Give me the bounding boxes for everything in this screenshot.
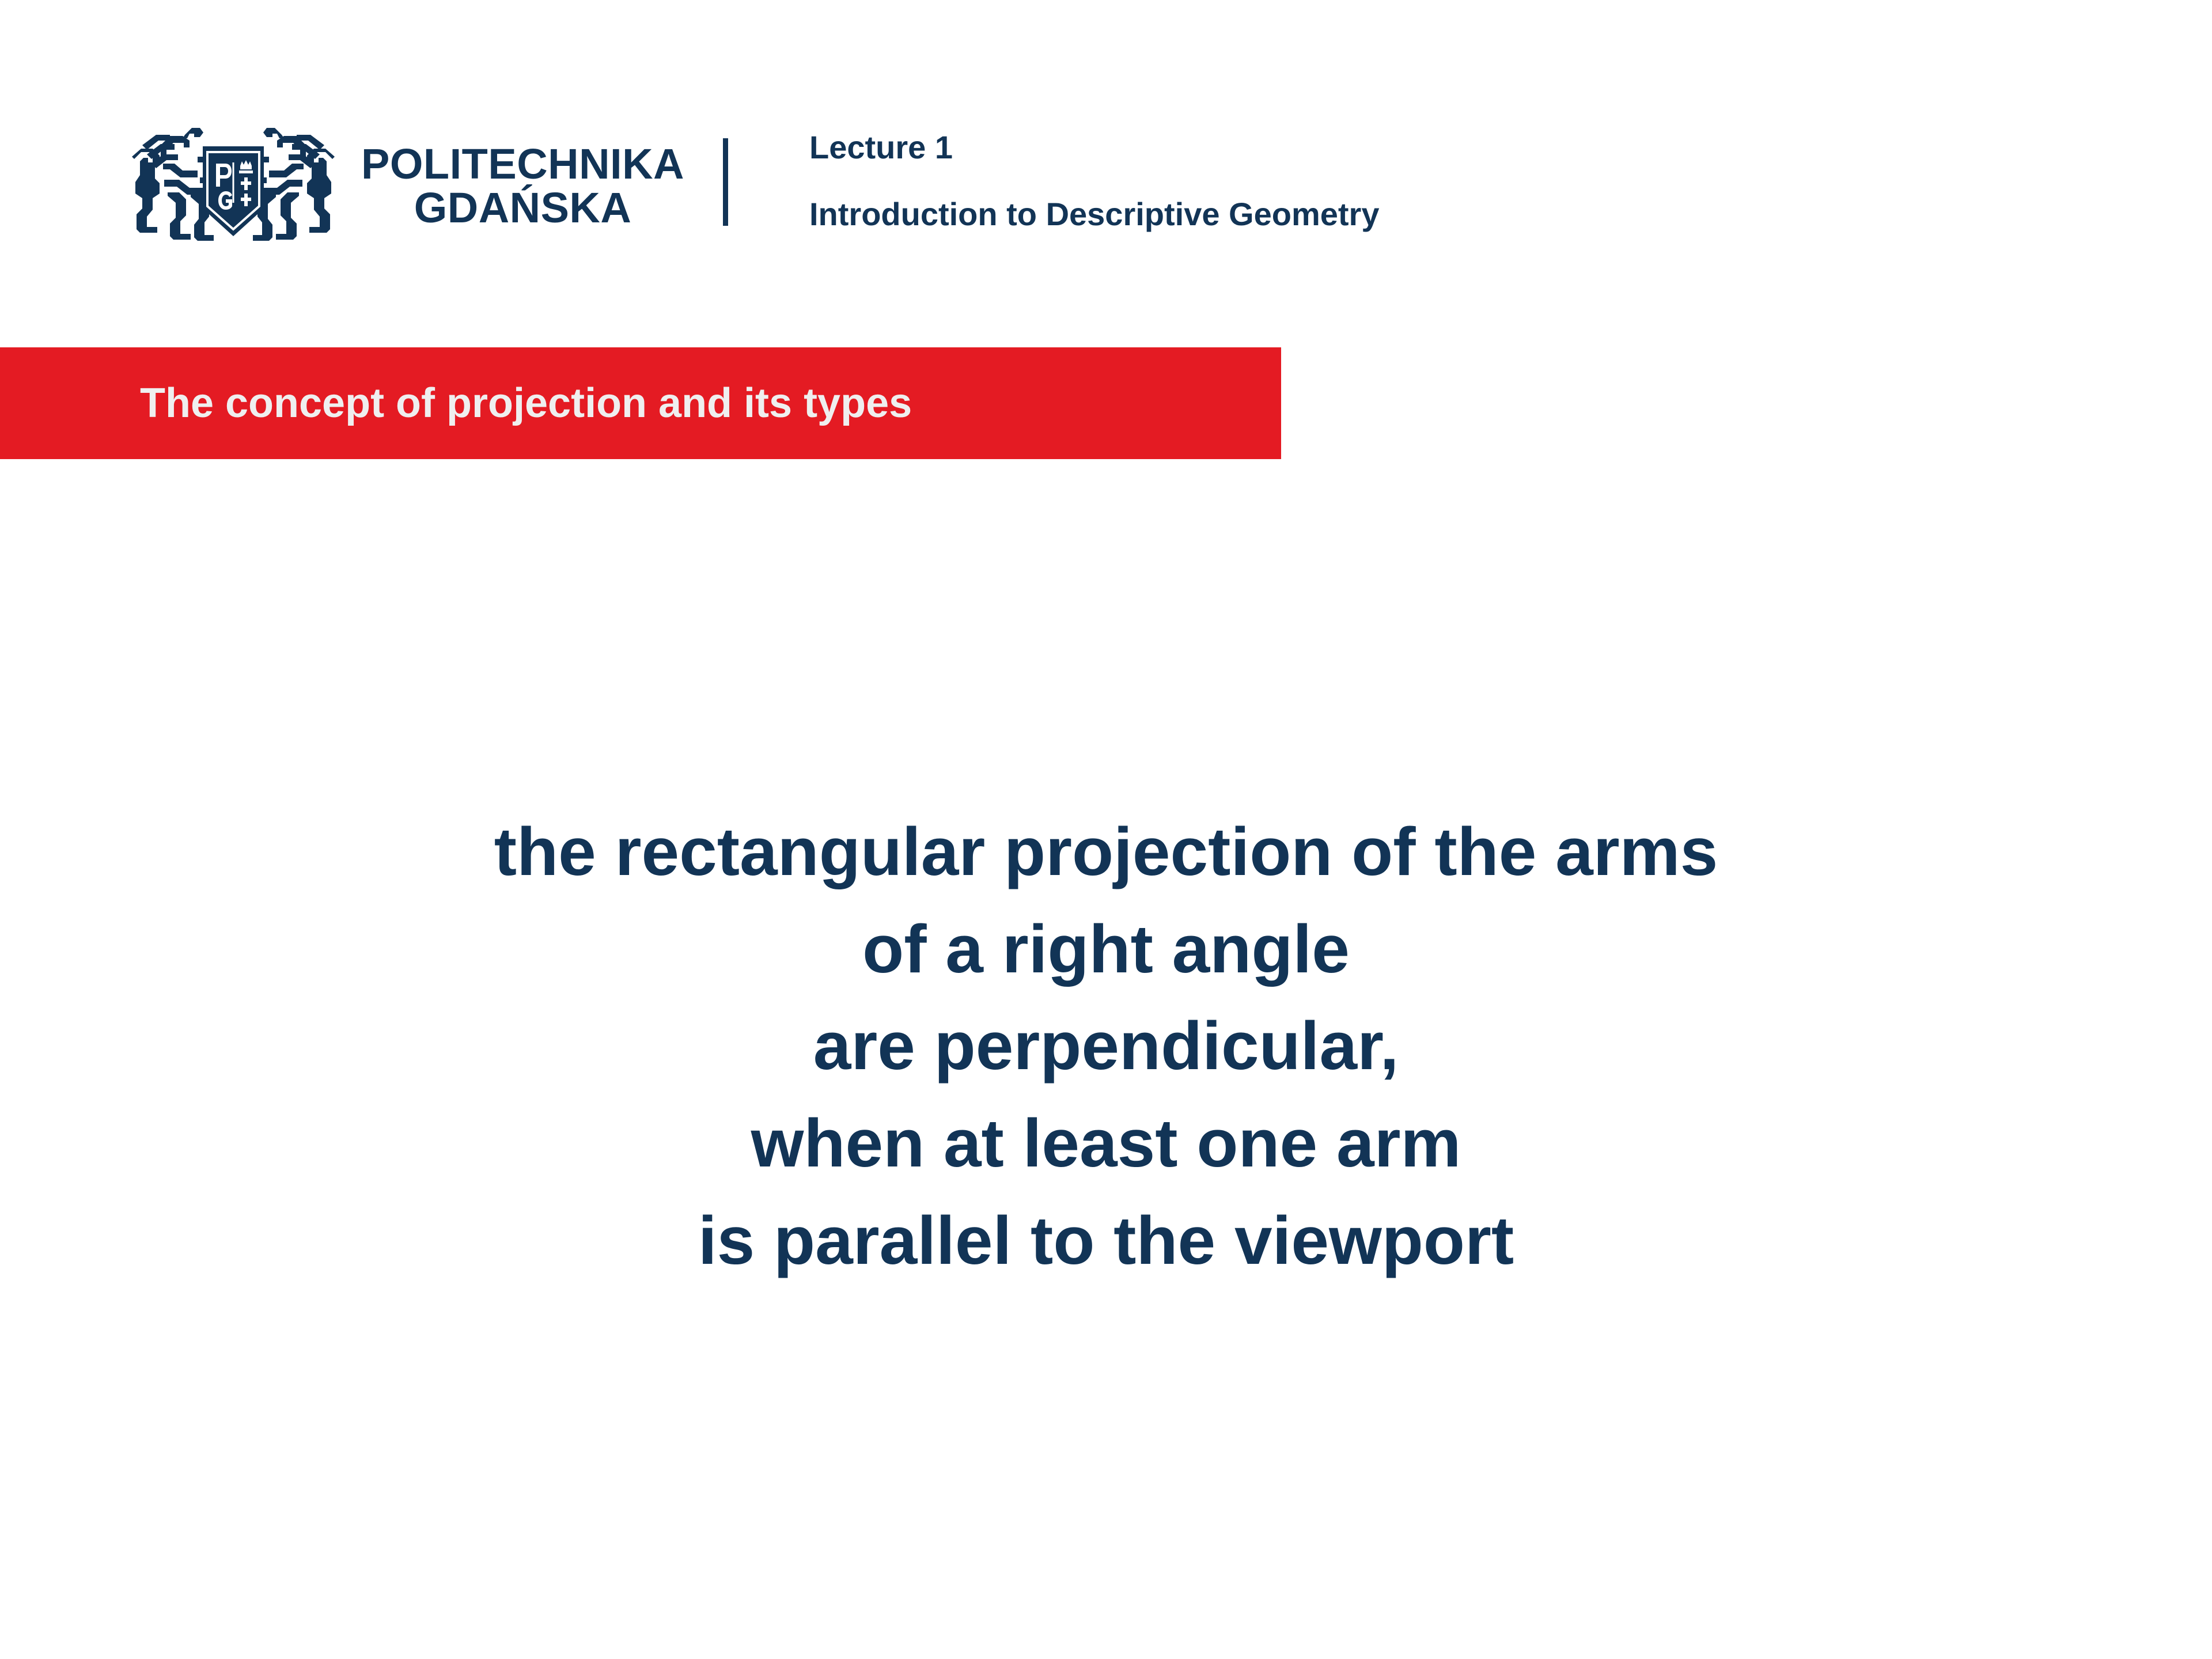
university-wordmark: POLITECHNIKA GDAŃSKA	[361, 142, 684, 230]
brand-lockup: POLITECHNIKA GDAŃSKA	[130, 122, 684, 250]
lecture-title-block: Lecture 1 Introduction to Descriptive Ge…	[809, 131, 1380, 230]
statement-line: of a right angle	[0, 901, 2212, 998]
lecture-subject: Introduction to Descriptive Geometry	[809, 198, 1380, 230]
pg-crest-logo	[130, 122, 337, 250]
wordmark-line-2: GDAŃSKA	[361, 186, 684, 230]
section-banner-label: The concept of projection and its types	[140, 382, 912, 424]
statement-line: when at least one arm	[0, 1095, 2212, 1192]
section-banner: The concept of projection and its types	[0, 347, 1281, 459]
statement-line: are perpendicular,	[0, 998, 2212, 1095]
wordmark-line-1: POLITECHNIKA	[361, 142, 684, 186]
header-vertical-divider	[723, 138, 728, 226]
statement-line: the rectangular projection of the arms	[0, 804, 2212, 901]
lecture-number: Lecture 1	[809, 131, 1380, 164]
slide-header: POLITECHNIKA GDAŃSKA Lecture 1 Introduct…	[0, 0, 2212, 300]
statement-text-block: the rectangular projection of the arms o…	[0, 804, 2212, 1290]
statement-line: is parallel to the viewport	[0, 1192, 2212, 1290]
slide-root: POLITECHNIKA GDAŃSKA Lecture 1 Introduct…	[0, 0, 2212, 1659]
